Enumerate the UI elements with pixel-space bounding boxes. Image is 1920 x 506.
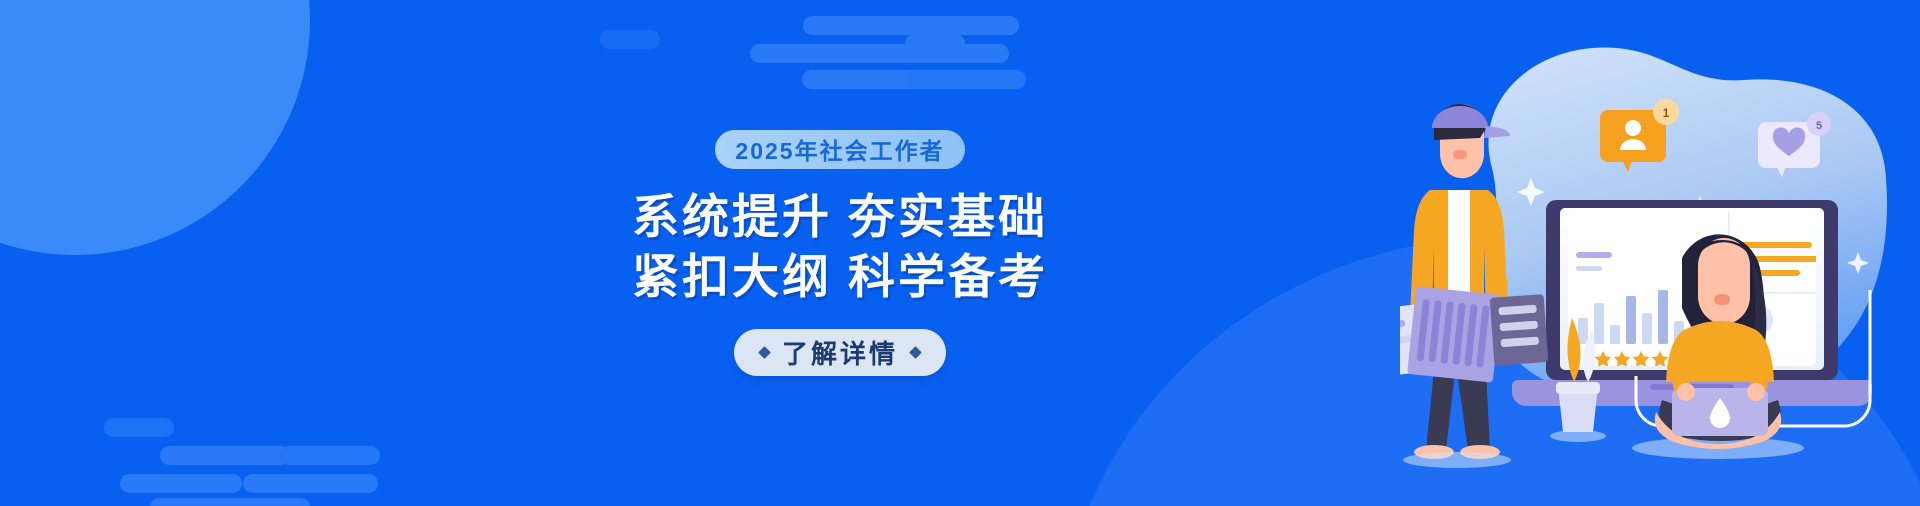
decor-circle-top-left <box>0 0 310 255</box>
promo-badge: 2025年社会工作者 <box>715 130 964 169</box>
learn-more-label: 了解详情 <box>782 334 898 371</box>
title-line-2: 紧扣大纲 科学备考 <box>632 247 1048 307</box>
title-line-1: 系统提升 夯实基础 <box>632 187 1048 247</box>
decor-stripe-bottom-3 <box>243 474 378 493</box>
decor-stripe-bottom-6 <box>150 498 310 506</box>
decor-stripe-bottom-4 <box>104 418 174 437</box>
promo-banner: 2025年社会工作者 系统提升 夯实基础 紧扣大纲 科学备考 了解详情 <box>0 0 1920 506</box>
learn-more-button[interactable]: 了解详情 <box>734 329 946 376</box>
notification-like-count: 5 <box>1816 120 1822 132</box>
diamond-icon-right <box>909 346 922 359</box>
diamond-icon-left <box>758 346 771 359</box>
decor-stripe-bottom-2 <box>120 474 242 493</box>
notification-user-count: 1 <box>1663 106 1670 120</box>
decor-stripe-bottom-5 <box>280 446 380 465</box>
online-learning-illustration: 1 5 <box>1400 0 1920 506</box>
decor-stripe-bottom-1 <box>160 446 290 465</box>
banner-content: 2025年社会工作者 系统提升 夯实基础 紧扣大纲 科学备考 了解详情 <box>560 0 1120 506</box>
